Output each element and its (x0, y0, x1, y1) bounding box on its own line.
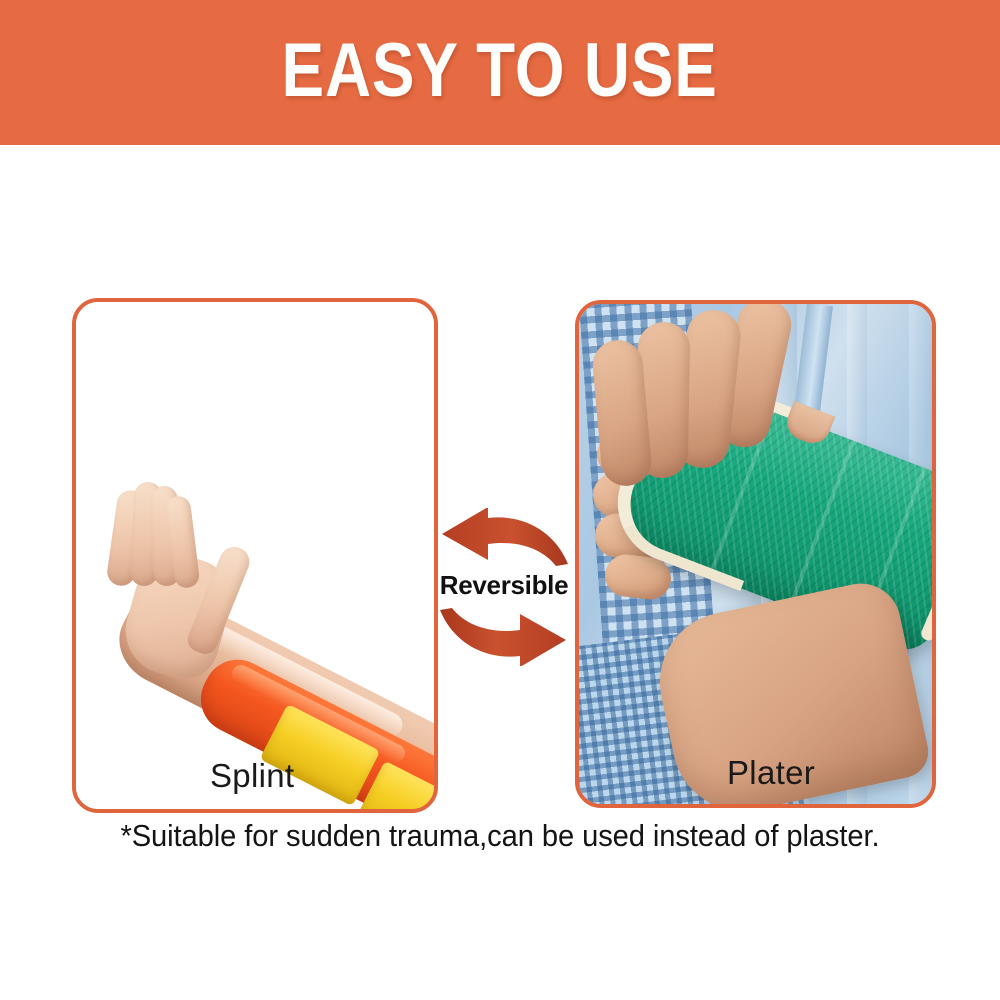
splint-card: Splint (72, 298, 438, 813)
splint-card-label: Splint (210, 757, 294, 795)
reversible-label: Reversible (430, 570, 578, 601)
splint-photo (76, 302, 434, 809)
reversible-indicator: Reversible (430, 512, 578, 662)
curved-arrow-left-icon (436, 508, 572, 570)
curved-arrow-right-icon (436, 604, 572, 666)
header-banner: EASY TO USE (0, 0, 1000, 145)
footer-caption: *Suitable for sudden trauma,can be used … (30, 818, 970, 854)
plaster-card-label: Plater (727, 754, 815, 792)
cast-photo (579, 304, 932, 804)
page-title: EASY TO USE (282, 33, 718, 109)
plaster-card: Plater (575, 300, 936, 808)
